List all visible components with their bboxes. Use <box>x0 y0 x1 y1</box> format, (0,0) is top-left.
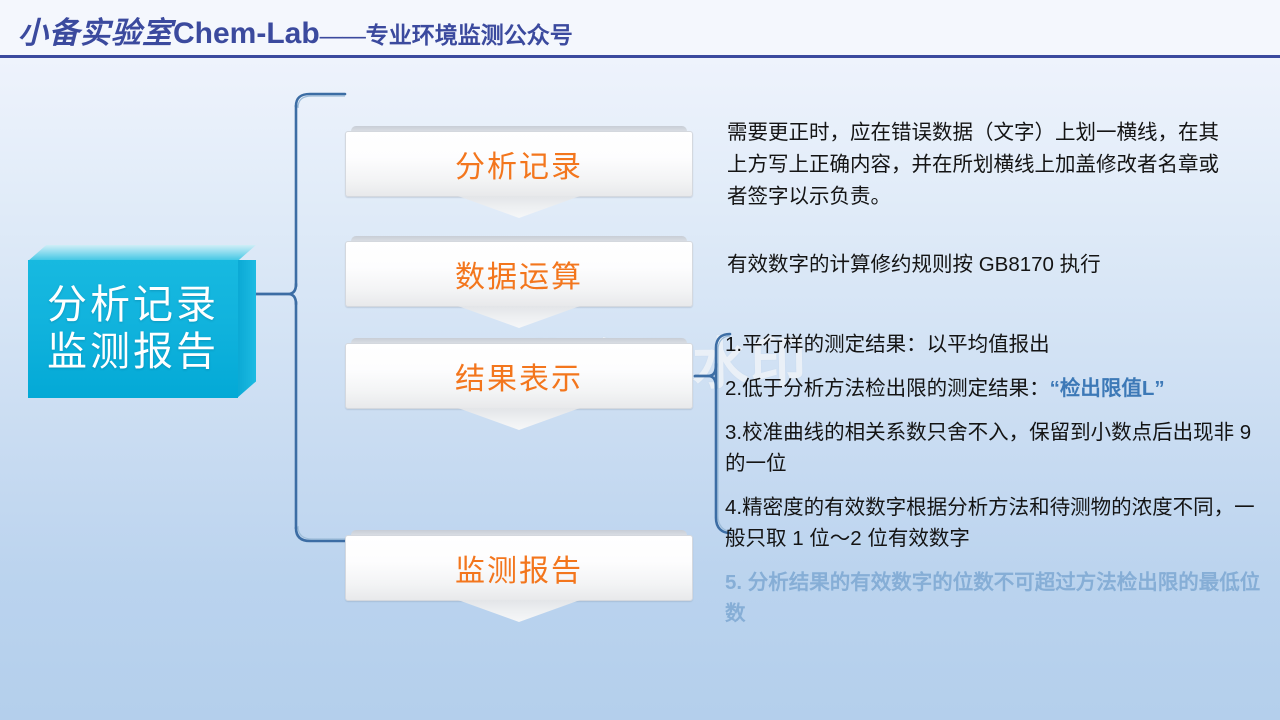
result-item-3: 3.校准曲线的相关系数只舍不入，保留到小数点后出现非 9 的一位 <box>725 417 1270 479</box>
box-bottom-notch <box>458 306 580 328</box>
process-box-data-calculation[interactable]: 数据运算 <box>345 236 693 312</box>
result-items-list: 1.平行样的测定结果：以平均值报出 2.低于分析方法检出限的测定结果：“检出限值… <box>725 329 1270 642</box>
root-node-side-face <box>237 260 256 398</box>
slide-canvas: 小备实验室Chem-Lab——专业环境监测公众号 非会员水印 <box>0 0 1280 720</box>
result-item-text: 4.精密度的有效数字根据分析方法和待测物的浓度不同，一般只取 1 位～2 位有效… <box>725 496 1255 550</box>
process-box-monitoring-report[interactable]: 监测报告 <box>345 530 693 606</box>
box-bottom-notch <box>458 196 580 218</box>
result-item-2: 2.低于分析方法检出限的测定结果：“检出限值L” <box>725 373 1270 404</box>
page-header: 小备实验室Chem-Lab——专业环境监测公众号 <box>0 0 1280 56</box>
root-node-line-1: 分析记录 <box>47 282 219 329</box>
process-box-result-presentation[interactable]: 结果表示 <box>345 338 693 414</box>
root-node[interactable]: 分析记录 监测报告 <box>28 245 256 398</box>
result-item-text: 5. 分析结果的有效数字的位数不可超过方法检出限的最低位数 <box>725 571 1260 625</box>
brand-dash: —— <box>320 23 366 48</box>
result-item-text: 1.平行样的测定结果：以平均值报出 <box>725 333 1050 356</box>
result-item-1: 1.平行样的测定结果：以平均值报出 <box>725 329 1270 360</box>
brand-tagline: 专业环境监测公众号 <box>366 23 573 48</box>
box-bottom-notch <box>458 600 580 622</box>
process-box-label: 分析记录 <box>345 131 693 197</box>
note-correction: 需要更正时，应在错误数据（文字）上划一横线，在其上方写上正确内容，并在所划横线上… <box>727 117 1227 213</box>
brand-name-cn: 小备实验室 <box>18 17 173 50</box>
root-node-label: 分析记录 监测报告 <box>28 260 238 398</box>
result-item-highlight: “检出限值L” <box>1050 377 1165 400</box>
page-title: 小备实验室Chem-Lab——专业环境监测公众号 <box>18 8 573 52</box>
result-item-text: 3.校准曲线的相关系数只舍不入，保留到小数点后出现非 9 的一位 <box>725 421 1251 475</box>
slide-body: 非会员水印 <box>0 58 1280 720</box>
process-box-label: 结果表示 <box>345 343 693 409</box>
box-bottom-notch <box>458 408 580 430</box>
result-item-5: 5. 分析结果的有效数字的位数不可超过方法检出限的最低位数 <box>725 567 1270 629</box>
root-node-top-face <box>28 245 256 261</box>
result-item-text: 2.低于分析方法检出限的测定结果： <box>725 377 1050 400</box>
note-rounding-rule: 有效数字的计算修约规则按 GB8170 执行 <box>727 249 1227 281</box>
result-item-4: 4.精密度的有效数字根据分析方法和待测物的浓度不同，一般只取 1 位～2 位有效… <box>725 492 1270 554</box>
root-node-line-2: 监测报告 <box>47 329 219 376</box>
brand-name-en: Chem-Lab <box>173 17 320 50</box>
process-box-analysis-record[interactable]: 分析记录 <box>345 126 693 202</box>
process-box-label: 数据运算 <box>345 241 693 307</box>
process-box-label: 监测报告 <box>345 535 693 601</box>
